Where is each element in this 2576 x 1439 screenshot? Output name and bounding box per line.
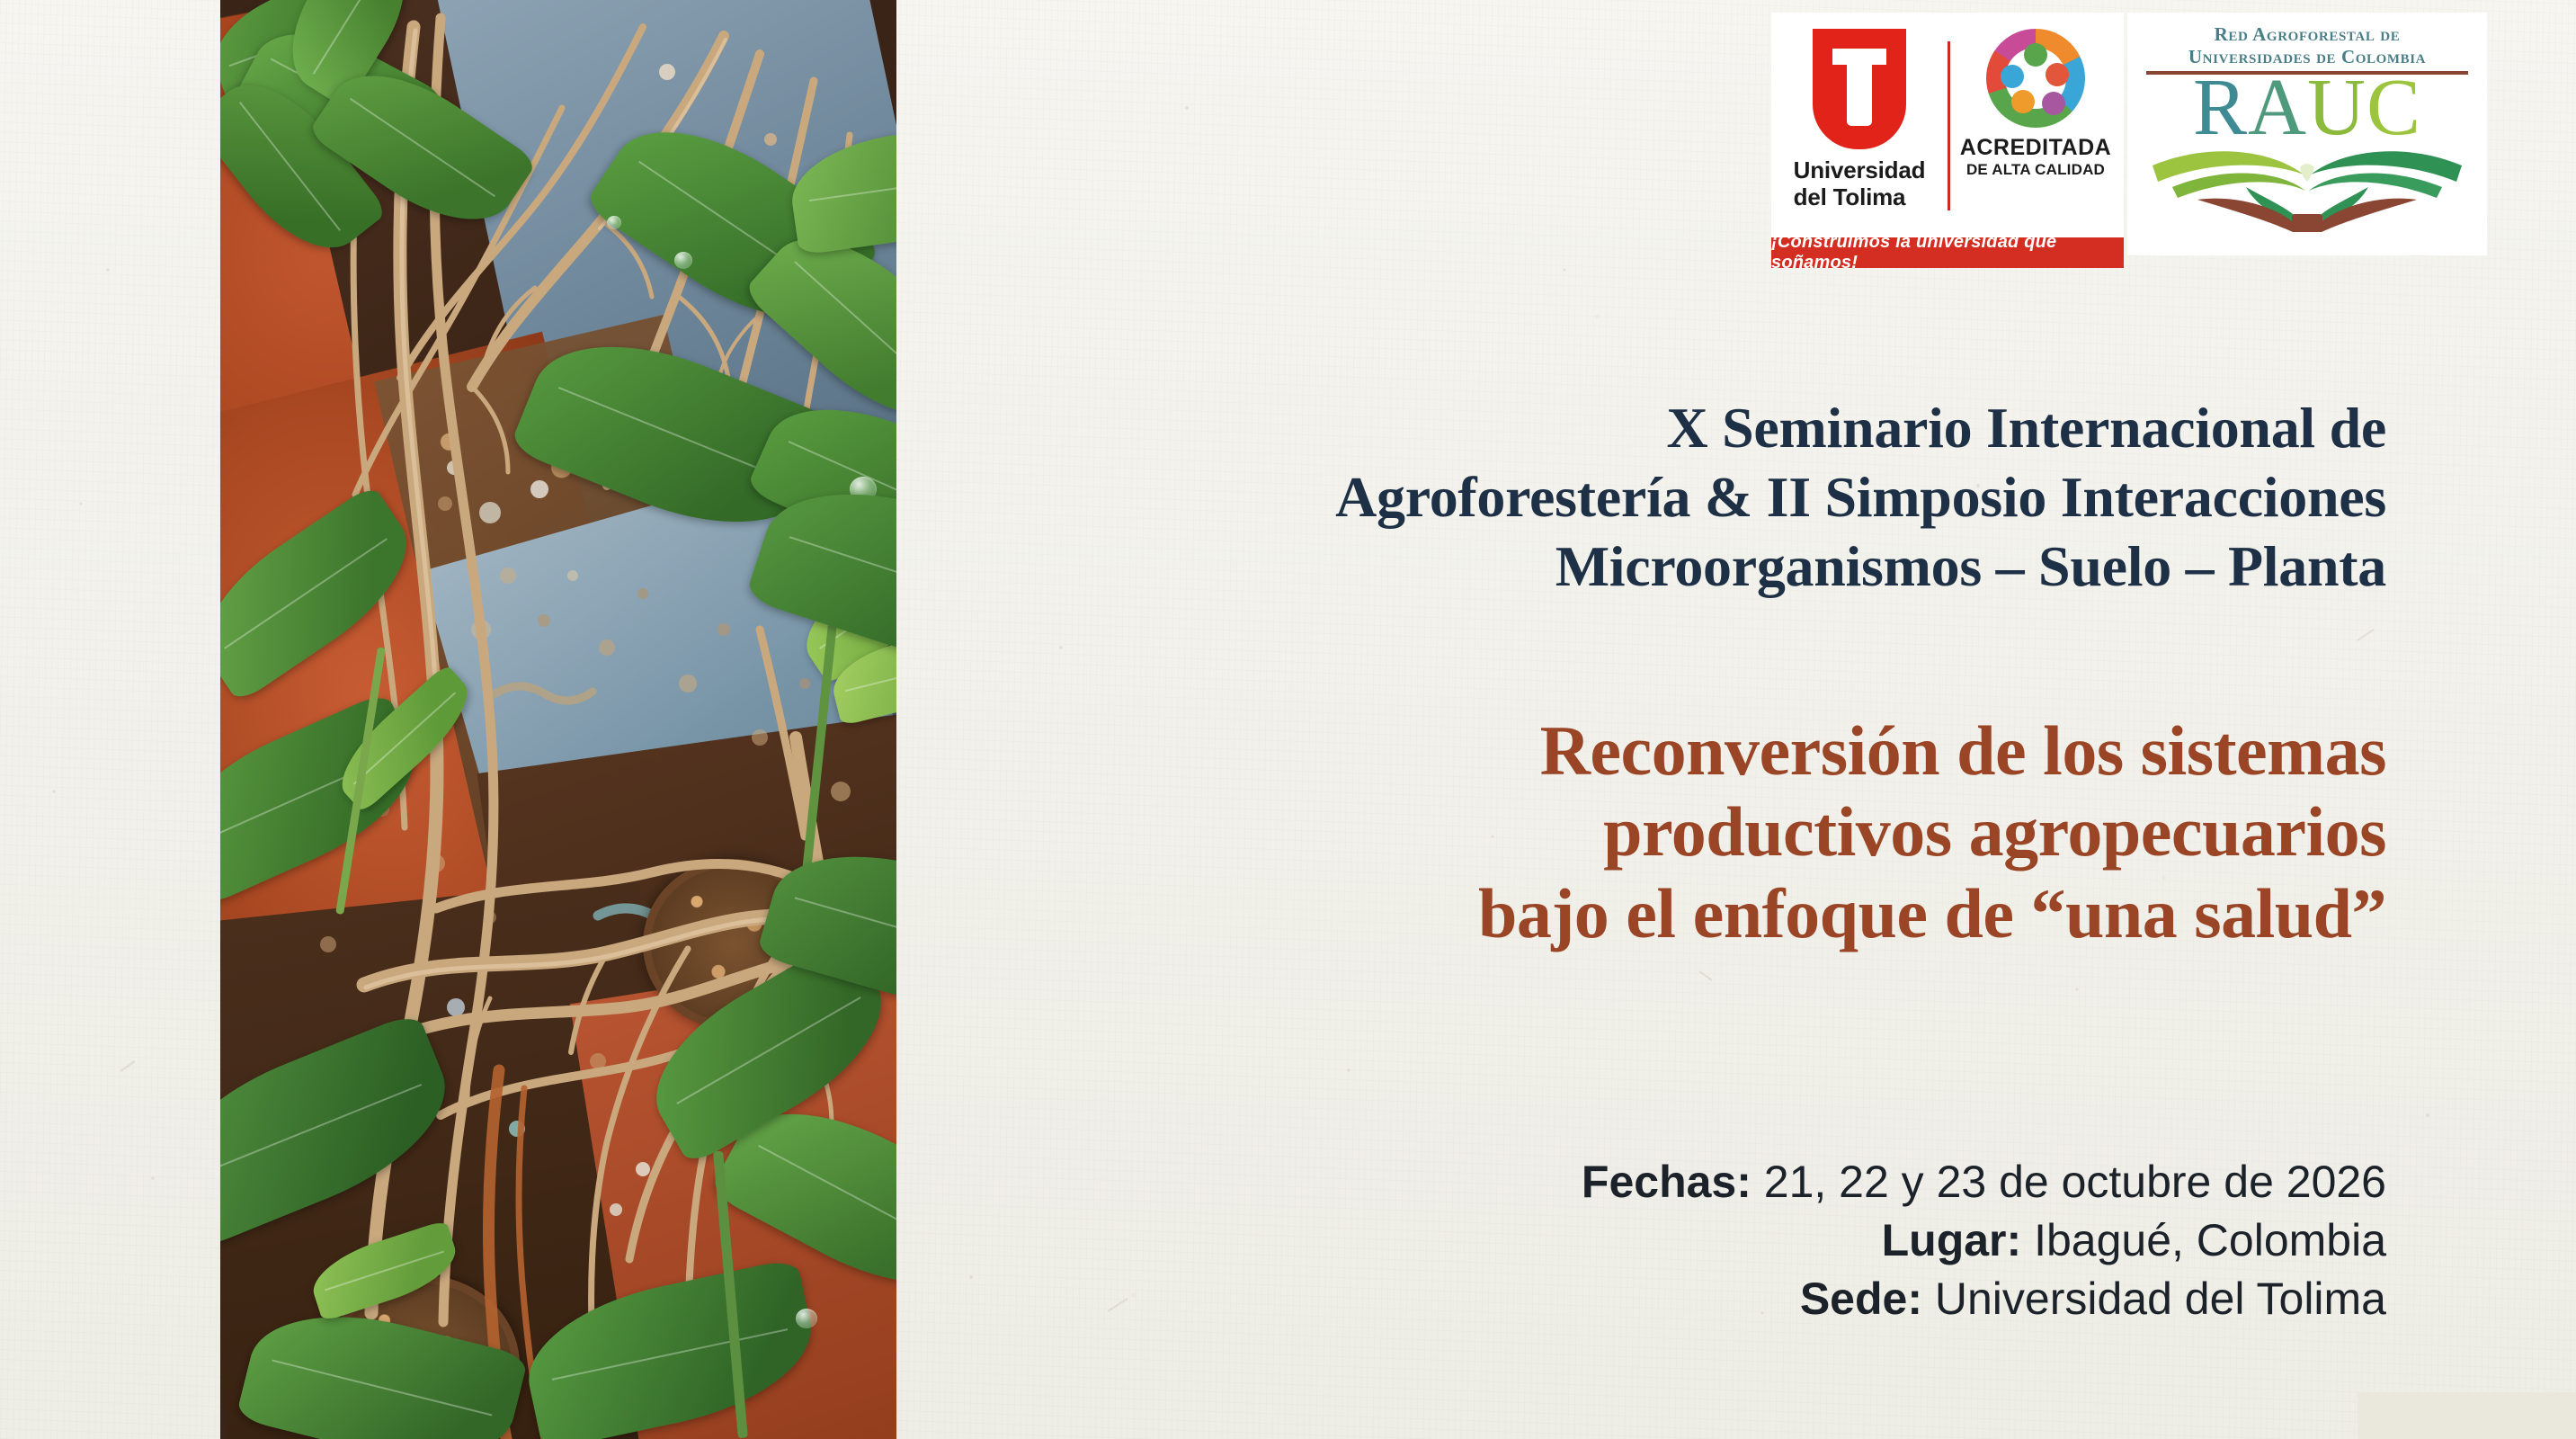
- theme-line: Reconversión de los sistemas: [984, 711, 2386, 791]
- detail-value: Universidad del Tolima: [1935, 1274, 2386, 1324]
- detail-label: Lugar:: [1882, 1215, 2022, 1265]
- water-droplet: [796, 1309, 817, 1328]
- event-theme: Reconversión de los sistemas productivos…: [984, 711, 2386, 954]
- detail-value: 21, 22 y 23 de octubre de 2026: [1764, 1157, 2386, 1207]
- title-line: X Seminario Internacional de: [984, 394, 2386, 463]
- water-droplet: [674, 252, 692, 269]
- text-column: X Seminario Internacional de Agroforeste…: [899, 0, 2483, 1439]
- detail-label: Fechas:: [1582, 1157, 1752, 1207]
- detail-value: Ibagué, Colombia: [2034, 1215, 2386, 1265]
- detail-row-lugar: Lugar: Ibagué, Colombia: [984, 1211, 2386, 1270]
- event-details: Fechas: 21, 22 y 23 de octubre de 2026 L…: [984, 1153, 2386, 1328]
- theme-line: productivos agropecuarios: [984, 791, 2386, 872]
- title-line: Microorganismos – Suelo – Planta: [984, 532, 2386, 602]
- water-droplet: [607, 216, 621, 229]
- detail-row-fechas: Fechas: 21, 22 y 23 de octubre de 2026: [984, 1153, 2386, 1211]
- theme-line: bajo el enfoque de “una salud”: [984, 873, 2386, 954]
- title-line: Agroforestería & II Simposio Interaccion…: [984, 463, 2386, 532]
- detail-label: Sede:: [1800, 1274, 1922, 1324]
- poster-canvas: Universidad del Tolima ACREDITADA: [0, 0, 2576, 1439]
- event-title: X Seminario Internacional de Agroforeste…: [984, 394, 2386, 601]
- detail-row-sede: Sede: Universidad del Tolima: [984, 1270, 2386, 1328]
- hero-image-soil-roots: [220, 0, 896, 1439]
